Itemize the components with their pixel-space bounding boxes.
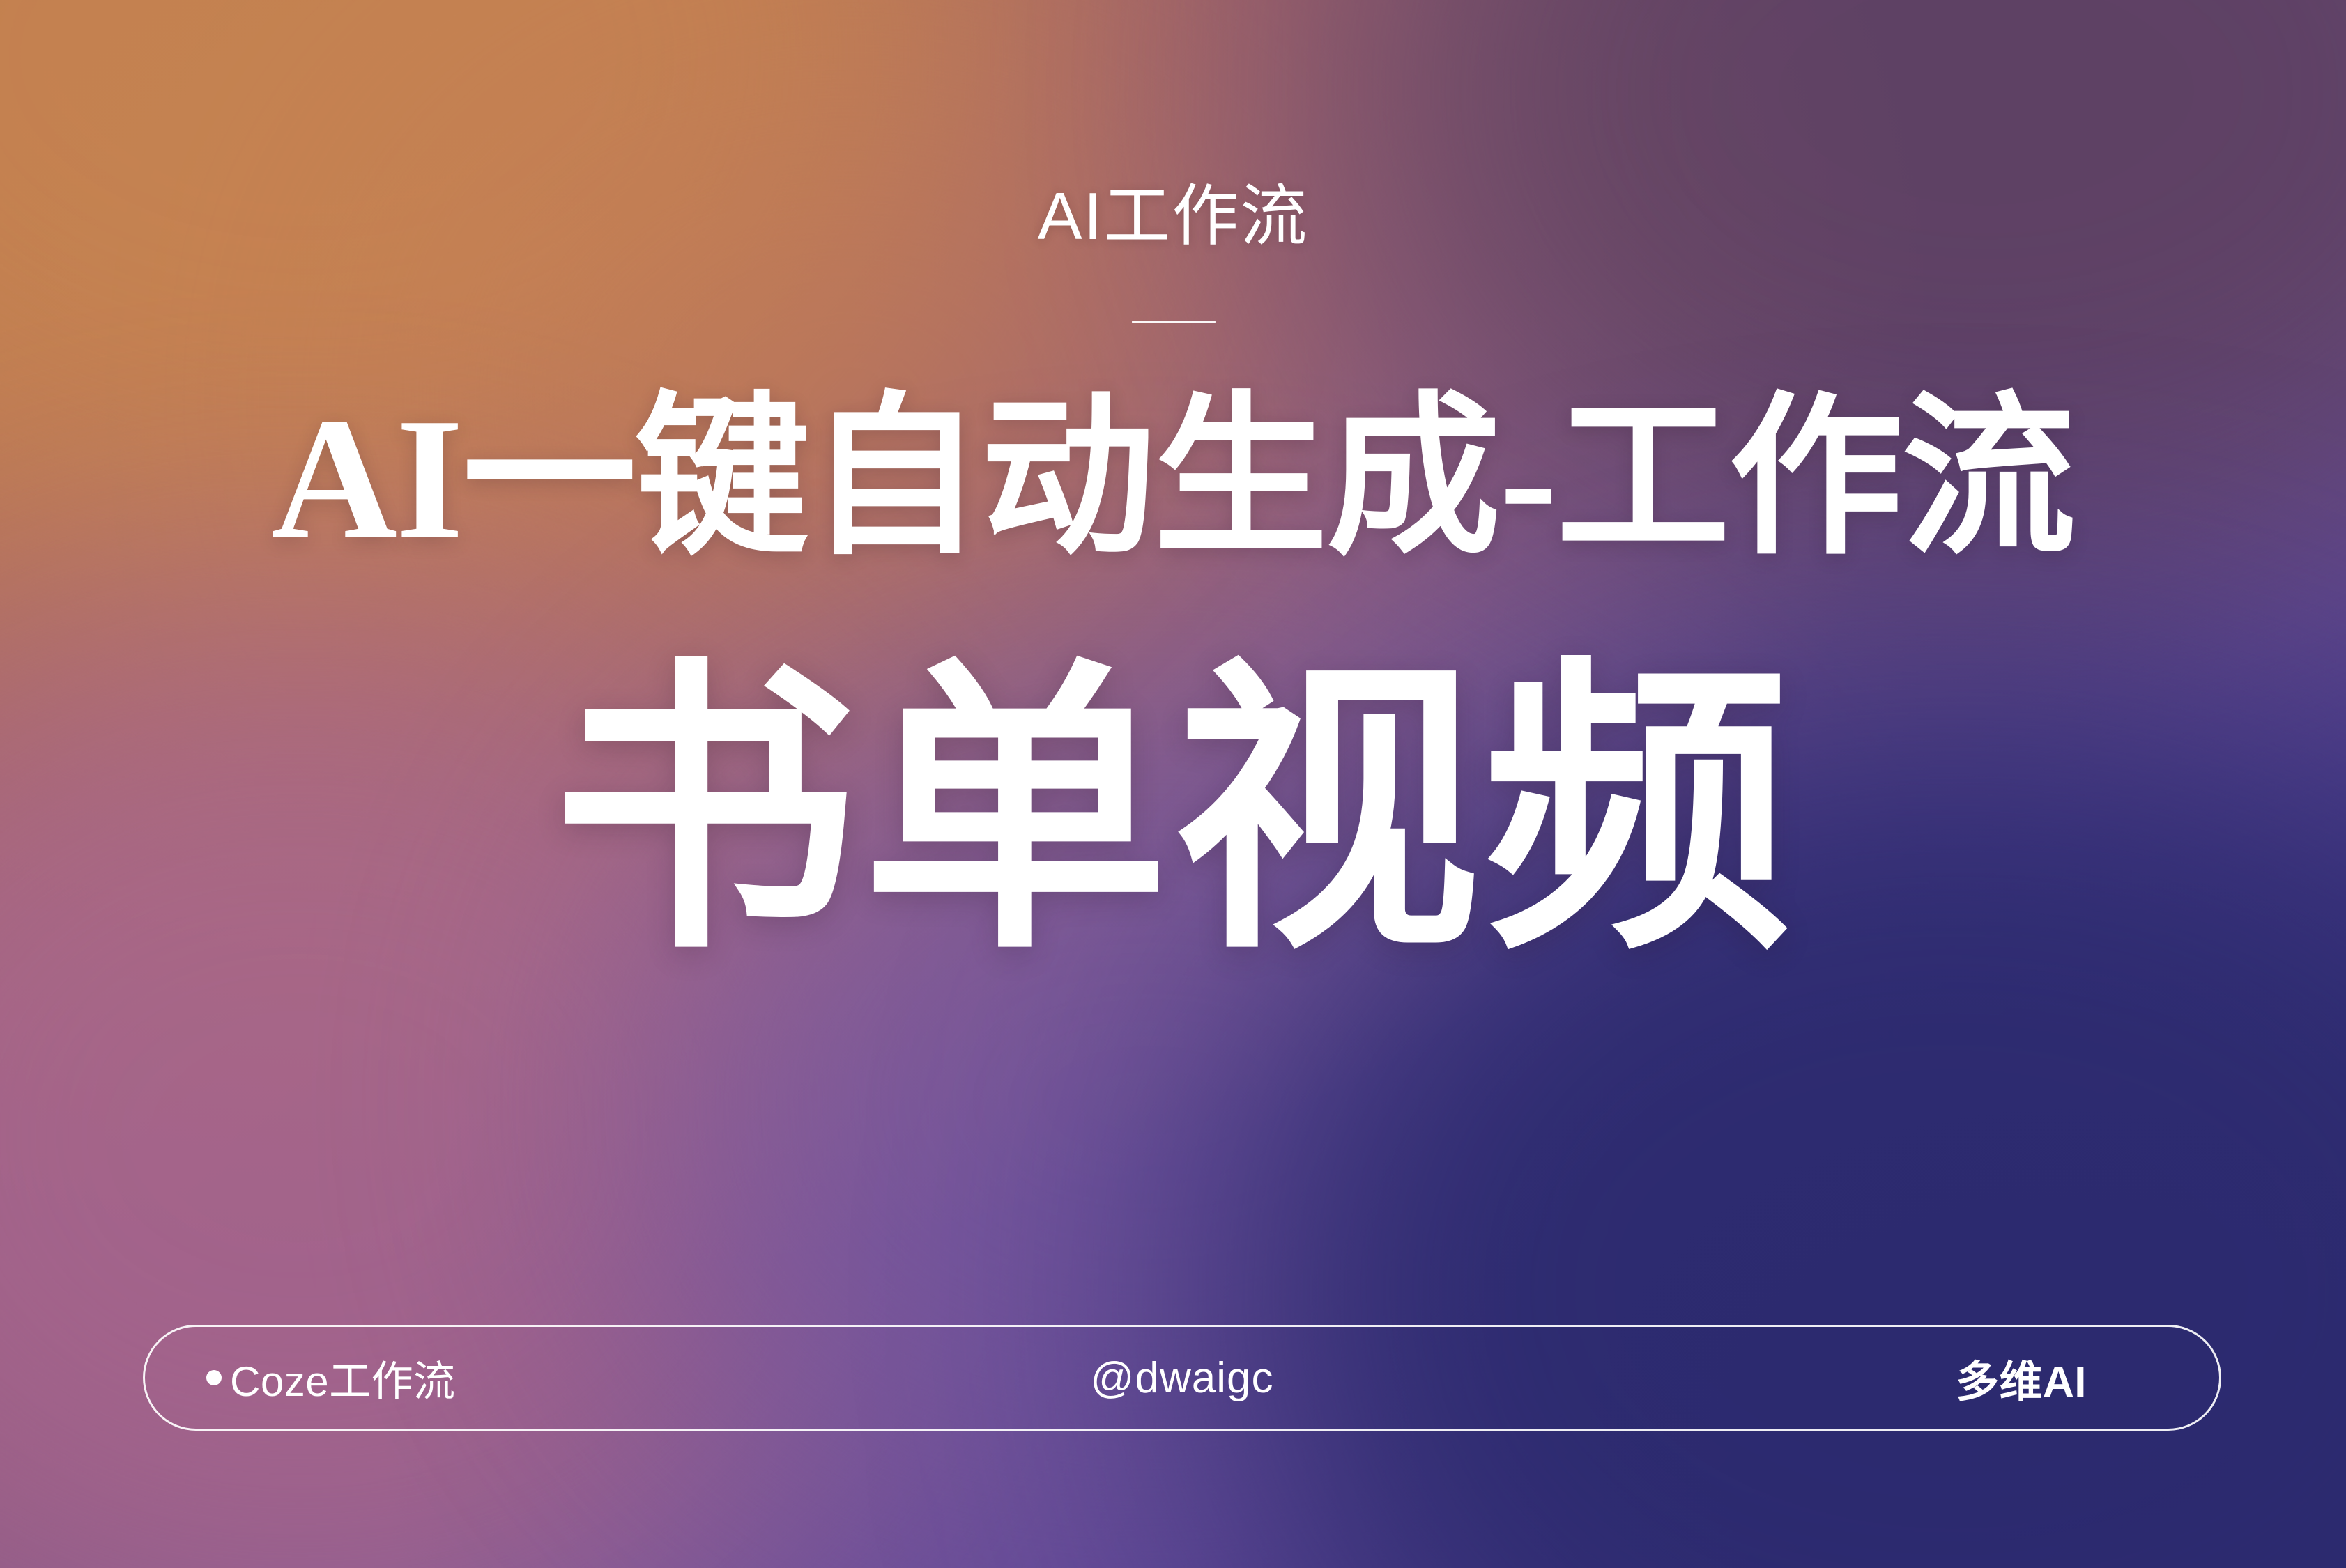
headline-line-1: AI一键自动生成-工作流 xyxy=(0,376,2346,582)
footer-brand: 多维AI xyxy=(1956,1346,2087,1409)
poster-content: AI工作流 AI一键自动生成-工作流 书单视频 Coze工作流 @dwaigc … xyxy=(0,0,2346,1568)
headline-line-2: 书单视频 xyxy=(0,598,2346,1033)
poster-canvas: AI工作流 AI一键自动生成-工作流 书单视频 Coze工作流 @dwaigc … xyxy=(0,0,2346,1568)
footer-handle: @dwaigc xyxy=(145,1353,2219,1403)
footer-pill-bar: Coze工作流 @dwaigc 多维AI xyxy=(143,1325,2221,1431)
title-divider-rule xyxy=(1132,321,1216,323)
eyebrow-label: AI工作流 xyxy=(0,180,2346,254)
